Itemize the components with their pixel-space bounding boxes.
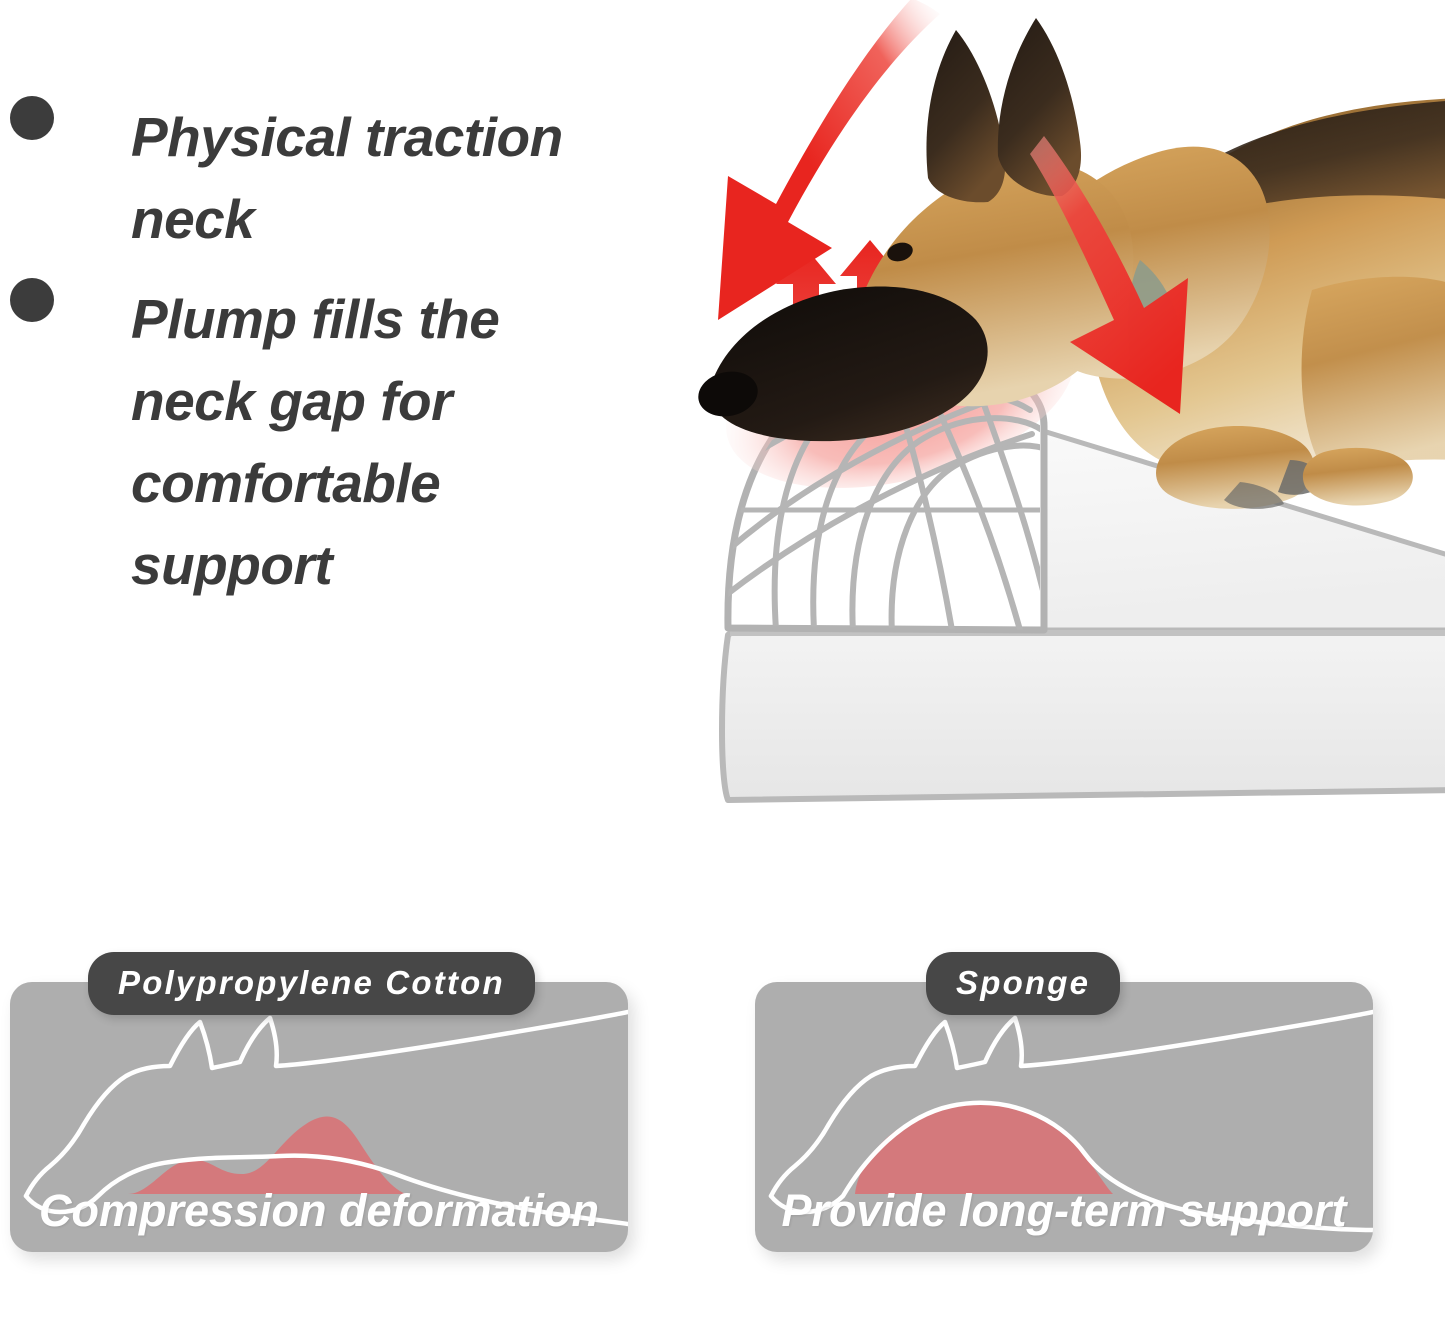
- panel-caption-compression: Compression deformation: [10, 1184, 628, 1238]
- dog-ear-left: [926, 30, 1005, 202]
- bullet-dot-icon: [10, 278, 54, 322]
- feature-item-label: Plump fills the neck gap for comfortable…: [131, 278, 601, 606]
- hero-svg: [600, 0, 1445, 830]
- panel-caption-support: Provide long-term support: [755, 1184, 1373, 1238]
- material-comparison: Compression deformation Provide long-ter…: [0, 930, 1445, 1330]
- dog-rear-paw: [1303, 448, 1413, 506]
- feature-list: Physical traction neck Plump fills the n…: [0, 0, 700, 600]
- badge-polypropylene-cotton: Polypropylene Cotton: [88, 952, 535, 1015]
- panel-polypropylene-cotton: Compression deformation: [10, 982, 628, 1252]
- feature-item-plump-fills-neck-gap: Plump fills the neck gap for comfortable…: [10, 278, 601, 606]
- bullet-dot-icon: [10, 96, 54, 140]
- hero-illustration: [600, 0, 1445, 830]
- dog-ear-right: [998, 18, 1081, 196]
- intact-dome-fill-shape: [855, 1103, 1113, 1194]
- feature-item-physical-traction-neck: Physical traction neck: [10, 96, 691, 260]
- badge-sponge: Sponge: [926, 952, 1120, 1015]
- panel-sponge: Provide long-term support: [755, 982, 1373, 1252]
- infographic-canvas: Physical traction neck Plump fills the n…: [0, 0, 1445, 1332]
